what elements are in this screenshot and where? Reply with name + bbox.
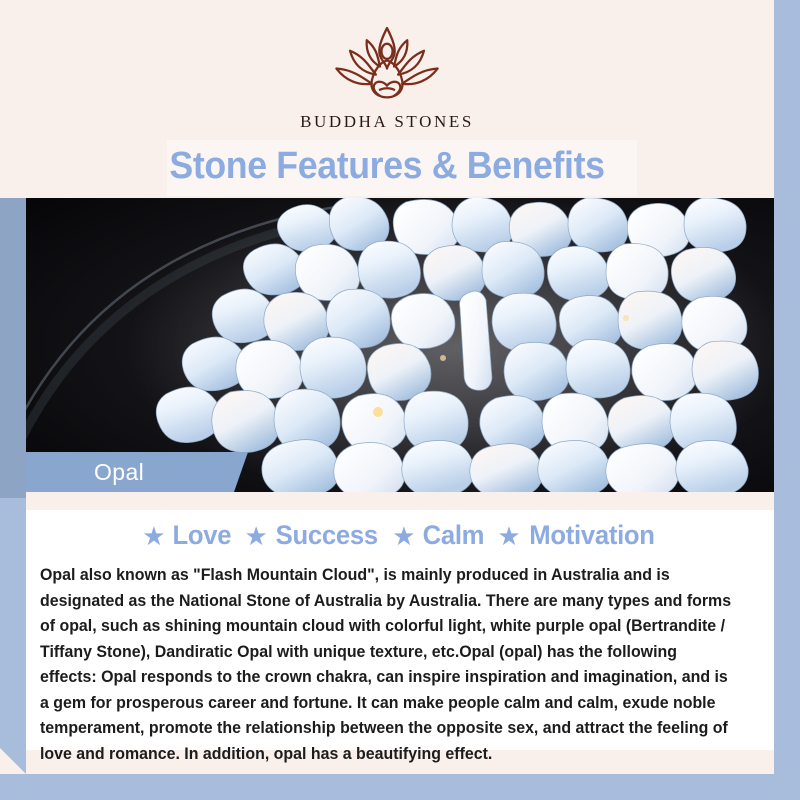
star-icon: ★ [142, 523, 165, 549]
benefit-label: Love [172, 520, 231, 551]
star-icon: ★ [244, 523, 267, 549]
star-icon: ★ [392, 523, 415, 549]
product-photo [26, 198, 774, 492]
benefit-label: Motivation [529, 520, 654, 551]
benefit-item-motivation: ★ Motivation [497, 520, 657, 551]
star-icon: ★ [497, 523, 520, 549]
frame-bottom-blue-bar [0, 774, 800, 800]
content-divider-band [26, 492, 774, 510]
page-title: Stone Features & Benefits [23, 140, 751, 192]
lotus-meditation-icon [331, 22, 443, 108]
benefit-item-success: ★ Success [244, 520, 380, 551]
frame-left-blue-bar [0, 198, 26, 800]
benefit-item-love: ★ Love [142, 520, 232, 551]
frame-right-blue-bar [774, 0, 800, 800]
benefit-item-calm: ★ Calm [392, 520, 485, 551]
opal-stones-image [26, 198, 774, 492]
brand-name: BUDDHA STONES [300, 112, 474, 132]
header-section: BUDDHA STONES Stone Features & Benefits [0, 0, 774, 198]
benefits-list: ★ Love ★ Success ★ Calm ★ Motivation [26, 510, 774, 551]
benefit-label: Calm [422, 520, 484, 551]
content-panel: ★ Love ★ Success ★ Calm ★ Motivation Opa… [26, 510, 774, 750]
stone-description: Opal also known as "Flash Mountain Cloud… [40, 562, 731, 766]
brand-logo: BUDDHA STONES [0, 22, 774, 132]
benefit-label: Success [275, 520, 377, 551]
stone-name: Opal [94, 452, 144, 492]
infographic-page: BUDDHA STONES Stone Features & Benefits [0, 0, 800, 800]
